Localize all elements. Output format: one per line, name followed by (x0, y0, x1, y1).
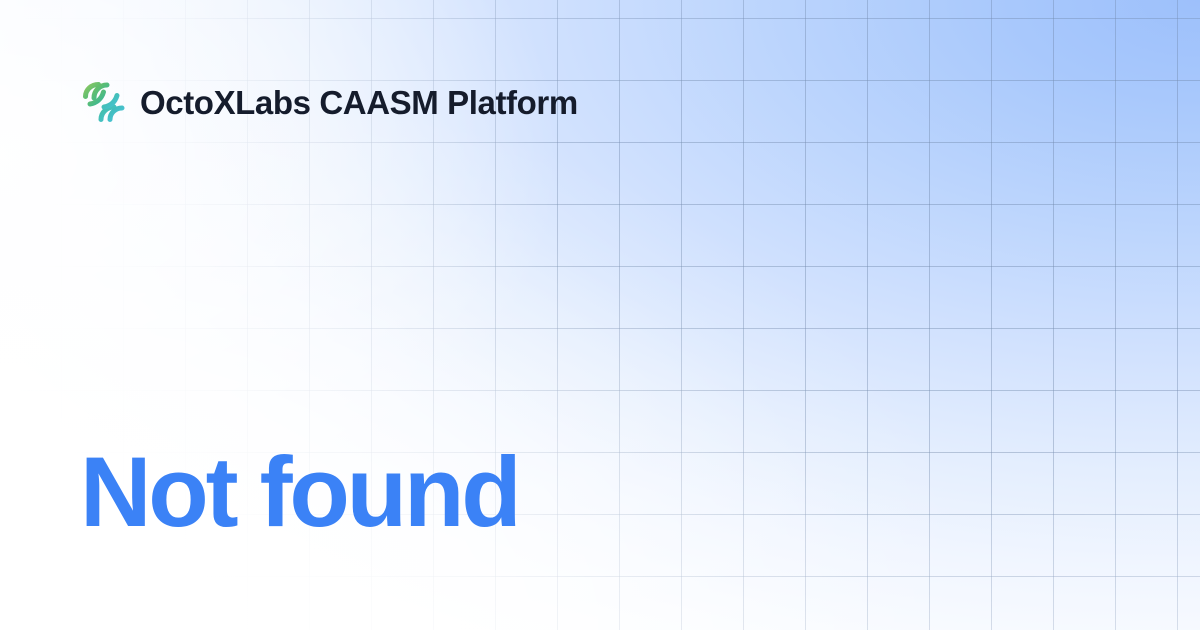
octoxlabs-waves-logo-icon (82, 80, 126, 124)
page-title: Not found (80, 440, 519, 544)
brand-lockup: OctoXLabs CAASM Platform (82, 80, 578, 124)
og-card: OctoXLabs CAASM Platform Not found (0, 0, 1200, 630)
brand-title: OctoXLabs CAASM Platform (140, 86, 578, 119)
card-content: OctoXLabs CAASM Platform Not found (0, 0, 1200, 630)
